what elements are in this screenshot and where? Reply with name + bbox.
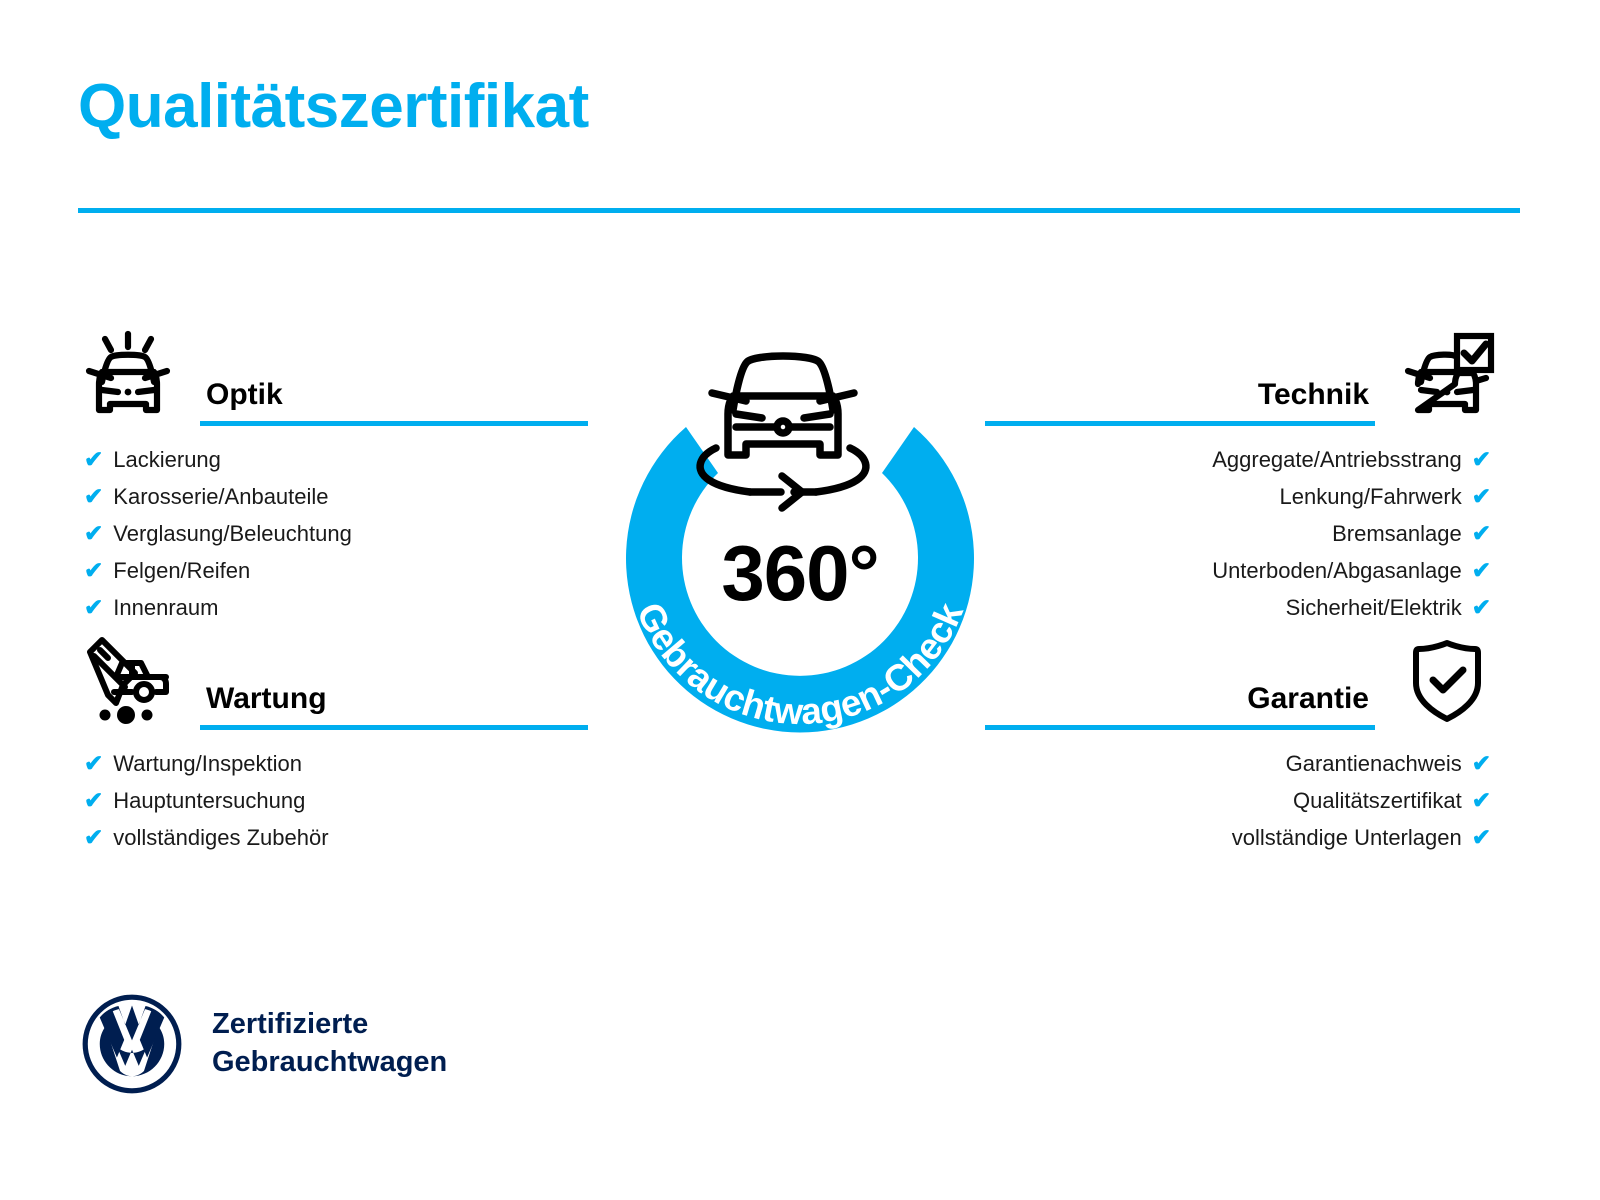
list-item-label: Unterboden/Abgasanlage <box>1212 558 1462 583</box>
checklist-technik: Aggregate/Antriebsstrang✔ Lenkung/Fahrwe… <box>985 426 1497 633</box>
section-divider-wartung <box>200 725 588 730</box>
check-icon: ✔ <box>1472 789 1491 812</box>
list-item: ✔Innenraum <box>78 596 588 633</box>
list-item: ✔Lackierung <box>78 448 588 485</box>
check-icon: ✔ <box>84 448 103 471</box>
footer-line-1: Zertifizierte <box>212 1006 447 1044</box>
list-item: Lenkung/Fahrwerk✔ <box>985 485 1497 522</box>
badge-360-gebrauchtwagen-check: Gebrauchtwagen-Check <box>566 300 1034 770</box>
list-item: Garantienachweis✔ <box>985 752 1497 789</box>
list-item-label: Aggregate/Antriebsstrang <box>1212 447 1462 472</box>
car-front-rotation-icon <box>700 356 866 508</box>
list-item: ✔Wartung/Inspektion <box>78 752 588 789</box>
pencil-car-service-icon <box>78 630 178 730</box>
list-item-label: Hauptuntersuchung <box>113 788 305 813</box>
footer-line-2: Gebrauchtwagen <box>212 1044 447 1082</box>
list-item: Aggregate/Antriebsstrang✔ <box>985 448 1497 485</box>
list-item: Qualitätszertifikat✔ <box>985 789 1497 826</box>
list-item-label: Verglasung/Beleuchtung <box>113 521 352 546</box>
section-title-technik: Technik <box>985 378 1375 421</box>
check-icon: ✔ <box>84 789 103 812</box>
checklist-garantie: Garantienachweis✔ Qualitätszertifikat✔ v… <box>985 730 1497 863</box>
list-item-label: Wartung/Inspektion <box>113 751 302 776</box>
list-item-label: Bremsanlage <box>1332 521 1462 546</box>
list-item-label: Lenkung/Fahrwerk <box>1280 484 1462 509</box>
check-icon: ✔ <box>1472 559 1491 582</box>
check-icon: ✔ <box>84 752 103 775</box>
list-item-label: Felgen/Reifen <box>113 558 250 583</box>
section-optik: Optik ✔Lackierung ✔Karosserie/Anbauteile… <box>78 326 588 633</box>
list-item-label: Innenraum <box>113 595 218 620</box>
shield-check-icon <box>1397 630 1497 730</box>
list-item-label: Qualitätszertifikat <box>1293 788 1462 813</box>
section-title-garantie: Garantie <box>985 682 1375 725</box>
check-icon: ✔ <box>84 559 103 582</box>
section-divider-garantie <box>985 725 1375 730</box>
list-item: ✔Karosserie/Anbauteile <box>78 485 588 522</box>
list-item: Sicherheit/Elektrik✔ <box>985 596 1497 633</box>
list-item-label: Sicherheit/Elektrik <box>1286 595 1462 620</box>
list-item: vollständige Unterlagen✔ <box>985 826 1497 863</box>
section-garantie: Garantie Garantienachweis✔ Qualitätszert… <box>985 630 1497 863</box>
list-item: ✔Verglasung/Beleuchtung <box>78 522 588 559</box>
list-item: Unterboden/Abgasanlage✔ <box>985 559 1497 596</box>
checklist-optik: ✔Lackierung ✔Karosserie/Anbauteile ✔Verg… <box>78 426 588 633</box>
list-item-label: vollständiges Zubehör <box>113 825 328 850</box>
check-icon: ✔ <box>1472 752 1491 775</box>
section-technik: Technik Aggregate/Antriebsstrang✔ Lenkun… <box>985 326 1497 633</box>
check-icon: ✔ <box>84 485 103 508</box>
page-title: Qualitätszertifikat <box>78 74 589 139</box>
list-item: Bremsanlage✔ <box>985 522 1497 559</box>
check-icon: ✔ <box>1472 522 1491 545</box>
header-divider <box>78 208 1520 213</box>
list-item-label: vollständige Unterlagen <box>1232 825 1462 850</box>
check-icon: ✔ <box>1472 596 1491 619</box>
footer-brand: Zertifizierte Gebrauchtwagen <box>80 992 447 1096</box>
section-title-optik: Optik <box>200 378 588 421</box>
volkswagen-logo-icon <box>80 992 184 1096</box>
list-item: ✔vollständiges Zubehör <box>78 826 588 863</box>
list-item: ✔Hauptuntersuchung <box>78 789 588 826</box>
check-icon: ✔ <box>84 522 103 545</box>
section-wartung: Wartung ✔Wartung/Inspektion ✔Hauptunters… <box>78 630 588 863</box>
car-front-shine-icon <box>78 326 178 426</box>
list-item-label: Lackierung <box>113 447 221 472</box>
car-front-checkbox-icon <box>1397 326 1497 426</box>
check-icon: ✔ <box>84 826 103 849</box>
footer-brand-text: Zertifizierte Gebrauchtwagen <box>212 1006 447 1081</box>
section-title-wartung: Wartung <box>200 682 588 725</box>
checklist-wartung: ✔Wartung/Inspektion ✔Hauptuntersuchung ✔… <box>78 730 588 863</box>
check-icon: ✔ <box>84 596 103 619</box>
list-item: ✔Felgen/Reifen <box>78 559 588 596</box>
list-item-label: Garantienachweis <box>1286 751 1462 776</box>
check-icon: ✔ <box>1472 826 1491 849</box>
check-icon: ✔ <box>1472 485 1491 508</box>
section-divider-technik <box>985 421 1375 426</box>
ring-shape <box>626 427 974 732</box>
check-icon: ✔ <box>1472 448 1491 471</box>
certificate-page: Qualitätszertifikat <box>0 0 1600 1200</box>
section-divider-optik <box>200 421 588 426</box>
list-item-label: Karosserie/Anbauteile <box>113 484 328 509</box>
